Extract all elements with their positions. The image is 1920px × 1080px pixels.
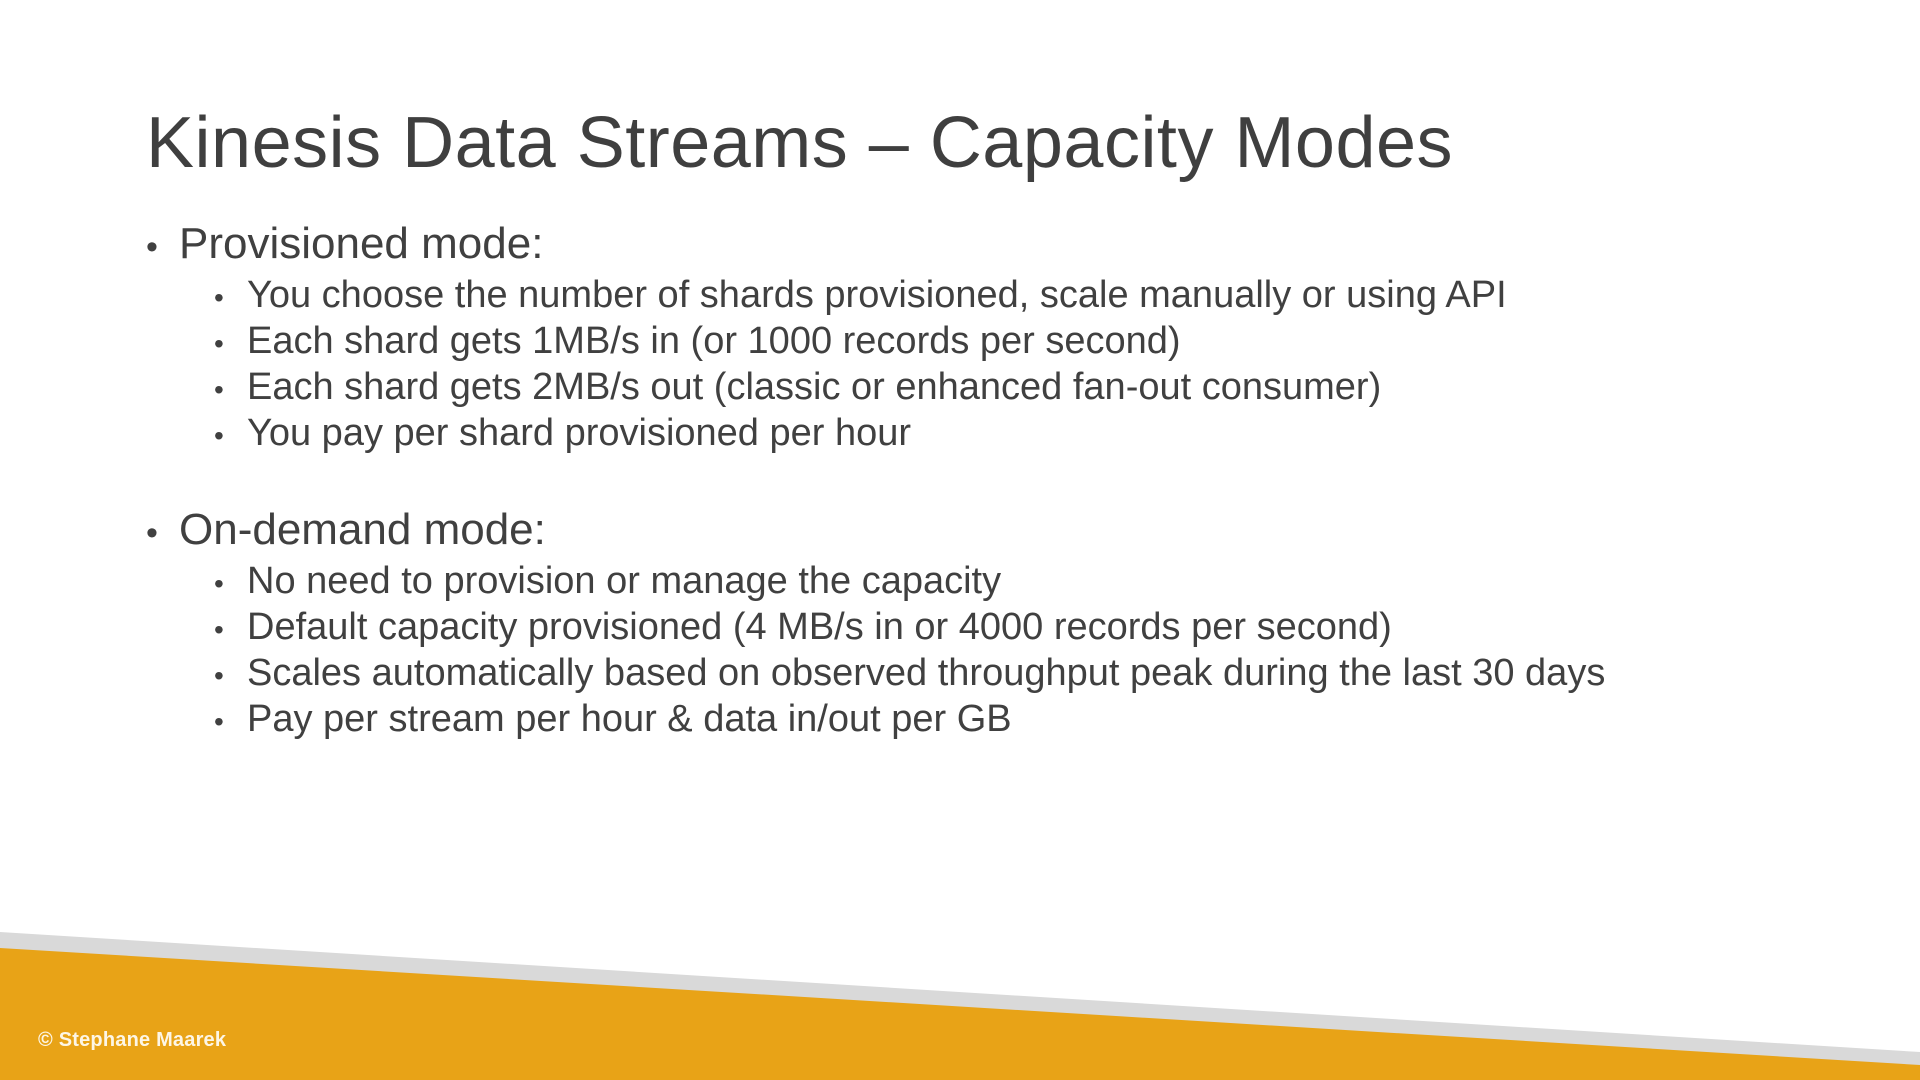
slide-body: • Provisioned mode: • You choose the num… xyxy=(146,222,1846,738)
bullet-dot-icon: • xyxy=(214,662,247,690)
list-item: • Scales automatically based on observed… xyxy=(214,654,1846,692)
group-spacer xyxy=(146,452,1846,508)
bullet-dot-icon: • xyxy=(214,570,247,598)
list-item-text: Pay per stream per hour & data in/out pe… xyxy=(247,700,1012,738)
bullet-dot-icon: • xyxy=(214,422,247,450)
list-item-text: Scales automatically based on observed t… xyxy=(247,654,1605,692)
bullet-group-on-demand: • On-demand mode: • No need to provision… xyxy=(146,508,1846,738)
bullet-dot-icon: • xyxy=(214,376,247,404)
list-item: • Default capacity provisioned (4 MB/s i… xyxy=(214,608,1846,646)
list-item-text: Each shard gets 2MB/s out (classic or en… xyxy=(247,368,1381,406)
bullet-dot-icon: • xyxy=(214,330,247,358)
list-item-text: No need to provision or manage the capac… xyxy=(247,562,1001,600)
copyright-text: © Stephane Maarek xyxy=(38,1029,226,1052)
orange-wedge-shape xyxy=(0,948,1920,1080)
list-item-text: You pay per shard provisioned per hour xyxy=(247,414,911,452)
page-title: Kinesis Data Streams – Capacity Modes xyxy=(146,106,1786,182)
bullet-group-provisioned: • Provisioned mode: • You choose the num… xyxy=(146,222,1846,452)
bullet-dot-icon: • xyxy=(146,230,179,264)
bullet-dot-icon: • xyxy=(214,708,247,736)
bullet-heading-provisioned: • Provisioned mode: xyxy=(146,222,1846,266)
list-item: • Pay per stream per hour & data in/out … xyxy=(214,700,1846,738)
list-item: • No need to provision or manage the cap… xyxy=(214,562,1846,600)
bullet-heading-text: Provisioned mode: xyxy=(179,222,543,266)
list-item: • Each shard gets 2MB/s out (classic or … xyxy=(214,368,1846,406)
bullet-dot-icon: • xyxy=(146,516,179,550)
footer-decoration xyxy=(0,920,1920,1080)
bullet-heading-on-demand: • On-demand mode: xyxy=(146,508,1846,552)
list-item-text: Default capacity provisioned (4 MB/s in … xyxy=(247,608,1392,646)
list-item-text: You choose the number of shards provisio… xyxy=(247,276,1507,314)
bullet-dot-icon: • xyxy=(214,284,247,312)
list-item-text: Each shard gets 1MB/s in (or 1000 record… xyxy=(247,322,1181,360)
bullet-dot-icon: • xyxy=(214,616,247,644)
list-item: • You choose the number of shards provis… xyxy=(214,276,1846,314)
slide: Kinesis Data Streams – Capacity Modes • … xyxy=(0,0,1920,1080)
bullet-heading-text: On-demand mode: xyxy=(179,508,546,552)
list-item: • Each shard gets 1MB/s in (or 1000 reco… xyxy=(214,322,1846,360)
list-item: • You pay per shard provisioned per hour xyxy=(214,414,1846,452)
